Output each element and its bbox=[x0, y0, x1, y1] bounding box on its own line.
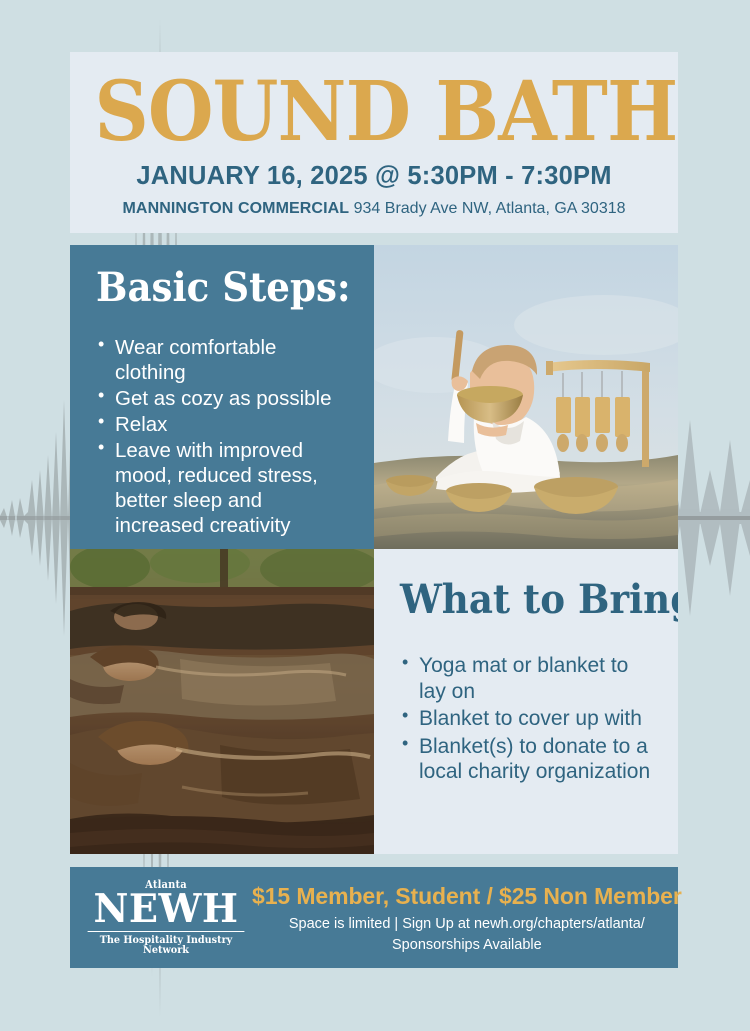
signup-line[interactable]: Space is limited | Sign Up at newh.org/c… bbox=[252, 916, 682, 932]
list-item: Yoga mat or blanket to lay on bbox=[400, 653, 660, 704]
list-item: Blanket(s) to donate to a local charity … bbox=[400, 734, 660, 785]
list-item: Blanket to cover up with bbox=[400, 706, 660, 732]
list-item: Wear comfortable clothing bbox=[96, 335, 350, 385]
logo-tagline: The Hospitality Industry Network bbox=[92, 935, 239, 956]
logo-acronym: NEWH bbox=[88, 891, 245, 931]
newh-logo: Atlanta NEWH The Hospitality Industry Ne… bbox=[86, 879, 246, 955]
footer-details: $15 Member, Student / $25 Non Member Spa… bbox=[246, 883, 682, 953]
price-line: $15 Member, Student / $25 Non Member bbox=[252, 883, 682, 910]
page-title: SOUND BATH bbox=[94, 72, 653, 152]
sponsorship-line: Sponsorships Available bbox=[252, 937, 682, 953]
list-item: Relax bbox=[96, 412, 350, 437]
relaxation-photo bbox=[70, 549, 374, 854]
what-to-bring-list: Yoga mat or blanket to lay on Blanket to… bbox=[400, 653, 660, 785]
relaxation-photo-image bbox=[70, 549, 374, 854]
basic-steps-heading: Basic Steps: bbox=[96, 267, 332, 309]
header-panel: SOUND BATH JANUARY 16, 2025 @ 5:30PM - 7… bbox=[70, 52, 678, 233]
what-to-bring-heading: What to Bring: bbox=[400, 579, 642, 621]
venue-name: MANNINGTON COMMERCIAL bbox=[122, 200, 349, 217]
content-grid: Basic Steps: Wear comfortable clothing G… bbox=[70, 245, 678, 854]
footer-panel: Atlanta NEWH The Hospitality Industry Ne… bbox=[70, 867, 678, 968]
list-item: Get as cozy as possible bbox=[96, 386, 350, 411]
venue-line: MANNINGTON COMMERCIAL 934 Brady Ave NW, … bbox=[70, 200, 678, 218]
list-item: Leave with improved mood, reduced stress… bbox=[96, 438, 350, 538]
singing-bowl-photo bbox=[374, 245, 678, 549]
what-to-bring-panel: What to Bring: Yoga mat or blanket to la… bbox=[374, 549, 678, 854]
venue-address: 934 Brady Ave NW, Atlanta, GA 30318 bbox=[354, 200, 626, 217]
event-date-time: JANUARY 16, 2025 @ 5:30PM - 7:30PM bbox=[70, 162, 678, 191]
singing-bowl-photo-image bbox=[374, 245, 678, 549]
sound-bath-flyer: SOUND BATH JANUARY 16, 2025 @ 5:30PM - 7… bbox=[0, 0, 750, 1031]
basic-steps-list: Wear comfortable clothing Get as cozy as… bbox=[96, 335, 350, 538]
basic-steps-panel: Basic Steps: Wear comfortable clothing G… bbox=[70, 245, 374, 549]
